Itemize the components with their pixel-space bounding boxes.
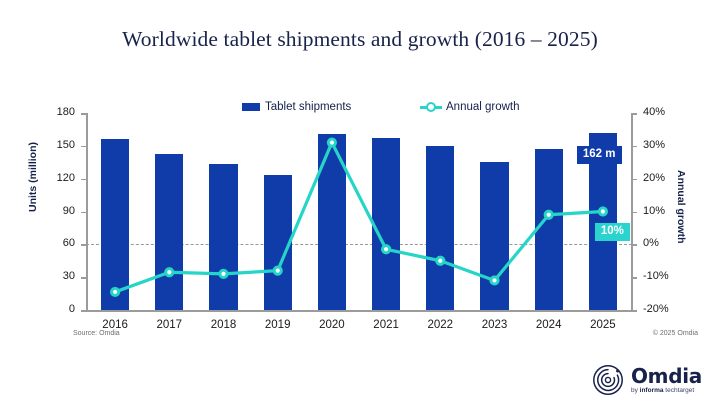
data-label-shipments-2025: 162 m <box>577 146 622 164</box>
plot-area: 0306090120150180 -20%-10%0%10%20%30%40% … <box>88 113 630 310</box>
y-axis-right-title: Annual growth <box>675 170 687 244</box>
page-title: Worldwide tablet shipments and growth (2… <box>0 27 720 52</box>
y-axis-right-tick-label: 10% <box>643 206 665 217</box>
logo-wordmark: Omdia <box>631 366 702 386</box>
y-axis-right-tick <box>632 244 637 246</box>
y-axis-right-tick-label: 0% <box>643 238 659 249</box>
y-axis-right-tick <box>632 146 637 148</box>
y-axis-right-tick-label: -10% <box>643 271 669 282</box>
y-axis-left-tick-label: 90 <box>63 206 75 217</box>
y-axis-right-tick <box>632 277 637 279</box>
y-axis-right-tick-label: 20% <box>643 173 665 184</box>
y-axis-left-tick <box>81 310 86 312</box>
x-axis-label-2020: 2020 <box>305 319 359 331</box>
tagline-strong: informa <box>640 387 664 394</box>
source-note: Source: Omdia <box>73 330 120 337</box>
x-axis-label-2022: 2022 <box>413 319 467 331</box>
y-axis-right-tick <box>632 113 637 115</box>
y-axis-left-tick <box>81 113 86 115</box>
omdia-swirl-icon <box>592 364 624 396</box>
y-axis-right-tick-label: 30% <box>643 140 665 151</box>
x-axis-label-2021: 2021 <box>359 319 413 331</box>
y-axis-right-tick <box>632 310 637 312</box>
y-axis-left-tick-label: 0 <box>69 304 75 315</box>
x-axis-label-2023: 2023 <box>467 319 521 331</box>
y-axis-left-tick-label: 30 <box>63 271 75 282</box>
legend-label-annual-growth: Annual growth <box>446 101 520 113</box>
y-axis-left-title: Units (million) <box>27 142 39 212</box>
data-label-growth-2025: 10% <box>595 223 630 241</box>
logo-tagline: by informa techtarget <box>631 388 702 395</box>
tagline-prefix: by <box>631 387 640 394</box>
growth-marker-2016 <box>112 288 119 295</box>
brand-logo: Omdia by informa techtarget <box>592 363 702 397</box>
x-axis-label-2025: 2025 <box>576 319 630 331</box>
growth-marker-2020 <box>328 139 335 146</box>
x-axis-label-2017: 2017 <box>142 319 196 331</box>
growth-marker-2017 <box>166 269 173 276</box>
chart-card: Worldwide tablet shipments and growth (2… <box>0 0 720 405</box>
tagline-rest: techtarget <box>664 387 695 394</box>
y-axis-right-tick-label: 40% <box>643 107 665 118</box>
y-axis-left-tick-label: 60 <box>63 238 75 249</box>
y-axis-left-tick <box>81 212 86 214</box>
growth-line-series <box>88 113 630 310</box>
y-axis-left-tick-label: 150 <box>57 140 75 151</box>
legend-label-tablet-shipments: Tablet shipments <box>265 101 351 113</box>
growth-marker-2021 <box>383 246 390 253</box>
y-axis-left-tick-label: 180 <box>57 107 75 118</box>
x-axis-label-2018: 2018 <box>196 319 250 331</box>
bar-swatch-icon <box>242 103 260 111</box>
y-axis-left-tick <box>81 277 86 279</box>
y-axis-right-tick-label: -20% <box>643 304 669 315</box>
growth-marker-2025 <box>599 208 606 215</box>
y-axis-left-tick <box>81 146 86 148</box>
growth-marker-2023 <box>491 277 498 284</box>
x-axis-label-2019: 2019 <box>251 319 305 331</box>
line-marker-swatch-icon <box>420 102 442 112</box>
y-axis-right-tick <box>632 179 637 181</box>
y-axis-left-tick <box>81 179 86 181</box>
growth-marker-2024 <box>545 211 552 218</box>
y-axis-right-tick <box>632 212 637 214</box>
x-axis-line <box>86 310 632 312</box>
copyright-note: © 2025 Omdia <box>653 330 698 337</box>
growth-marker-2022 <box>437 257 444 264</box>
growth-marker-2019 <box>274 267 281 274</box>
x-axis-label-2024: 2024 <box>522 319 576 331</box>
y-axis-left-tick-label: 120 <box>57 173 75 184</box>
growth-marker-2018 <box>220 270 227 277</box>
